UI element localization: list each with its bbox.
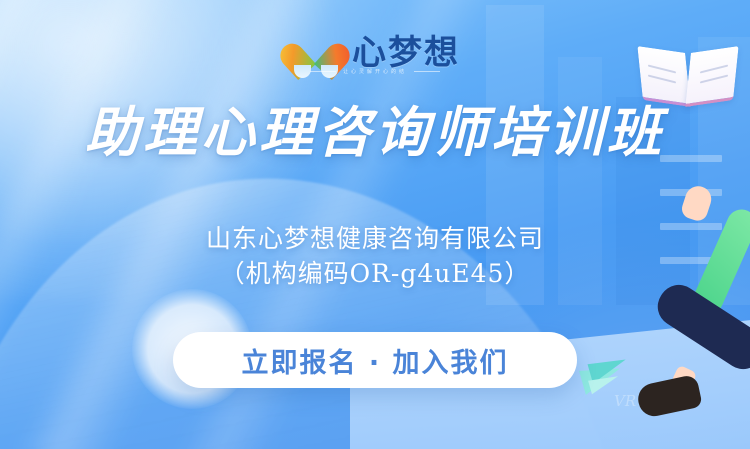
cta-container: 立即报名 · 加入我们 — [0, 332, 750, 388]
person-hand — [679, 183, 714, 223]
watermark: VR — [614, 392, 636, 410]
enroll-button[interactable]: 立即报名 · 加入我们 — [173, 332, 577, 388]
tagline-rule-left — [310, 71, 336, 72]
enroll-button-label: 立即报名 · 加入我们 — [241, 341, 508, 380]
promo-banner: 心梦想 让心灵解开心的结 助理心理咨询师培训班 山东心梦想健康咨询有限公司 （机… — [0, 0, 750, 449]
heart-foot-left — [294, 65, 311, 78]
brand-tagline: 让心灵解开心的结 — [343, 68, 407, 75]
org-code: （机构编码OR-g4uE45） — [0, 257, 750, 292]
waving-person-illustration — [626, 180, 750, 430]
tagline-rule-right — [414, 71, 440, 72]
heart-shape — [292, 28, 338, 68]
company-name: 山东心梦想健康咨询有限公司 — [206, 224, 544, 253]
page-title: 助理心理咨询师培训班 — [0, 104, 750, 161]
brand-name: 心梦想 — [352, 36, 460, 70]
brand-tagline-row: 让心灵解开心的结 — [310, 68, 440, 75]
company-info: 山东心梦想健康咨询有限公司 （机构编码OR-g4uE45） — [0, 222, 750, 291]
